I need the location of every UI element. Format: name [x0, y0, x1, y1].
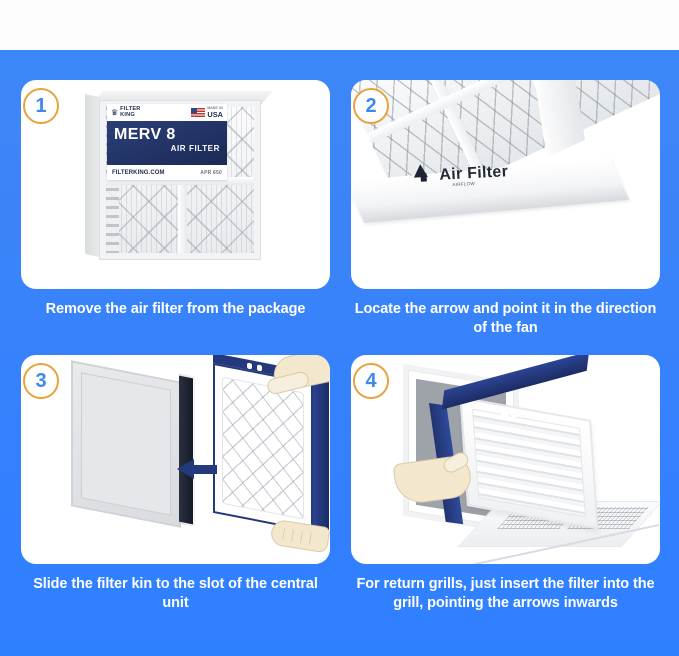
central-unit-slot [71, 360, 181, 527]
airflow-arrow-icon [413, 164, 428, 178]
step-caption-2: Locate the arrow and point it in the dir… [351, 300, 660, 338]
step-3-image-card: 3 [21, 355, 330, 564]
filter-corner-arrow-photo: Air Filter AIRFLOW [351, 80, 660, 289]
step-1-image-card: ♛ FILTER KING MADE IN [21, 80, 330, 289]
infographic-root: How to Install Your Air Filter [0, 0, 679, 656]
country-text: USA [207, 111, 223, 118]
step-2-image-card: Air Filter AIRFLOW 2 [351, 80, 660, 289]
step-number-badge-4: 4 [353, 363, 389, 399]
filter-mesh-pattern [222, 377, 304, 520]
slot-opening [179, 376, 193, 525]
step-number-badge-3: 3 [23, 363, 59, 399]
slide-filter-into-slot-illustration [21, 355, 330, 564]
filter-king-logo: ♛ FILTER KING [111, 107, 141, 118]
step-card-2: Air Filter AIRFLOW 2 Locate the arrow an… [351, 80, 660, 338]
header-band [0, 0, 679, 50]
filter-arrow-mark-1 [247, 363, 252, 370]
steps-grid: ♛ FILTER KING MADE IN [0, 50, 679, 656]
crown-icon: ♛ [111, 109, 118, 117]
step-caption-3: Slide the filter kin to the slot of the … [21, 575, 330, 613]
grill-louvers [472, 409, 586, 518]
step-number-badge-1: 1 [23, 88, 59, 124]
filter-package-photo: ♛ FILTER KING MADE IN [21, 80, 330, 289]
made-in-usa-mark: MADE IN USA [191, 107, 223, 118]
us-flag-icon [191, 108, 205, 117]
apr-rating-text: APR 650 [200, 170, 222, 176]
air-filter-illustration [213, 363, 317, 535]
step-4-image-card: 4 [351, 355, 660, 564]
website-text: FILTERKING.COM [112, 170, 165, 176]
step-caption-1: Remove the air filter from the package [21, 300, 330, 319]
merv-rating: MERV 8 [114, 126, 220, 143]
filter-side-depth [313, 373, 329, 534]
merv-banner: MERV 8 AIR FILTER [107, 121, 227, 165]
filter-arrow-mark-2 [257, 364, 262, 371]
step-card-1: ♛ FILTER KING MADE IN [21, 80, 330, 319]
merv-subtitle: AIR FILTER [114, 144, 220, 153]
step-card-3: 3 Slide the filter kin to the slot of th… [21, 355, 330, 613]
step-caption-4: For return grills, just insert the filte… [351, 575, 660, 613]
step-number-badge-2: 2 [353, 88, 389, 124]
return-grill-insert-illustration [351, 355, 660, 564]
step-card-4: 4 For return grills, just insert the fil… [351, 355, 660, 613]
slot-inner-panel [81, 372, 171, 515]
direction-arrow-shaft [193, 465, 217, 474]
brand-name: FILTER KING [120, 107, 140, 118]
direction-arrow-icon [177, 459, 194, 479]
filter-product-label: ♛ FILTER KING MADE IN [107, 104, 227, 180]
